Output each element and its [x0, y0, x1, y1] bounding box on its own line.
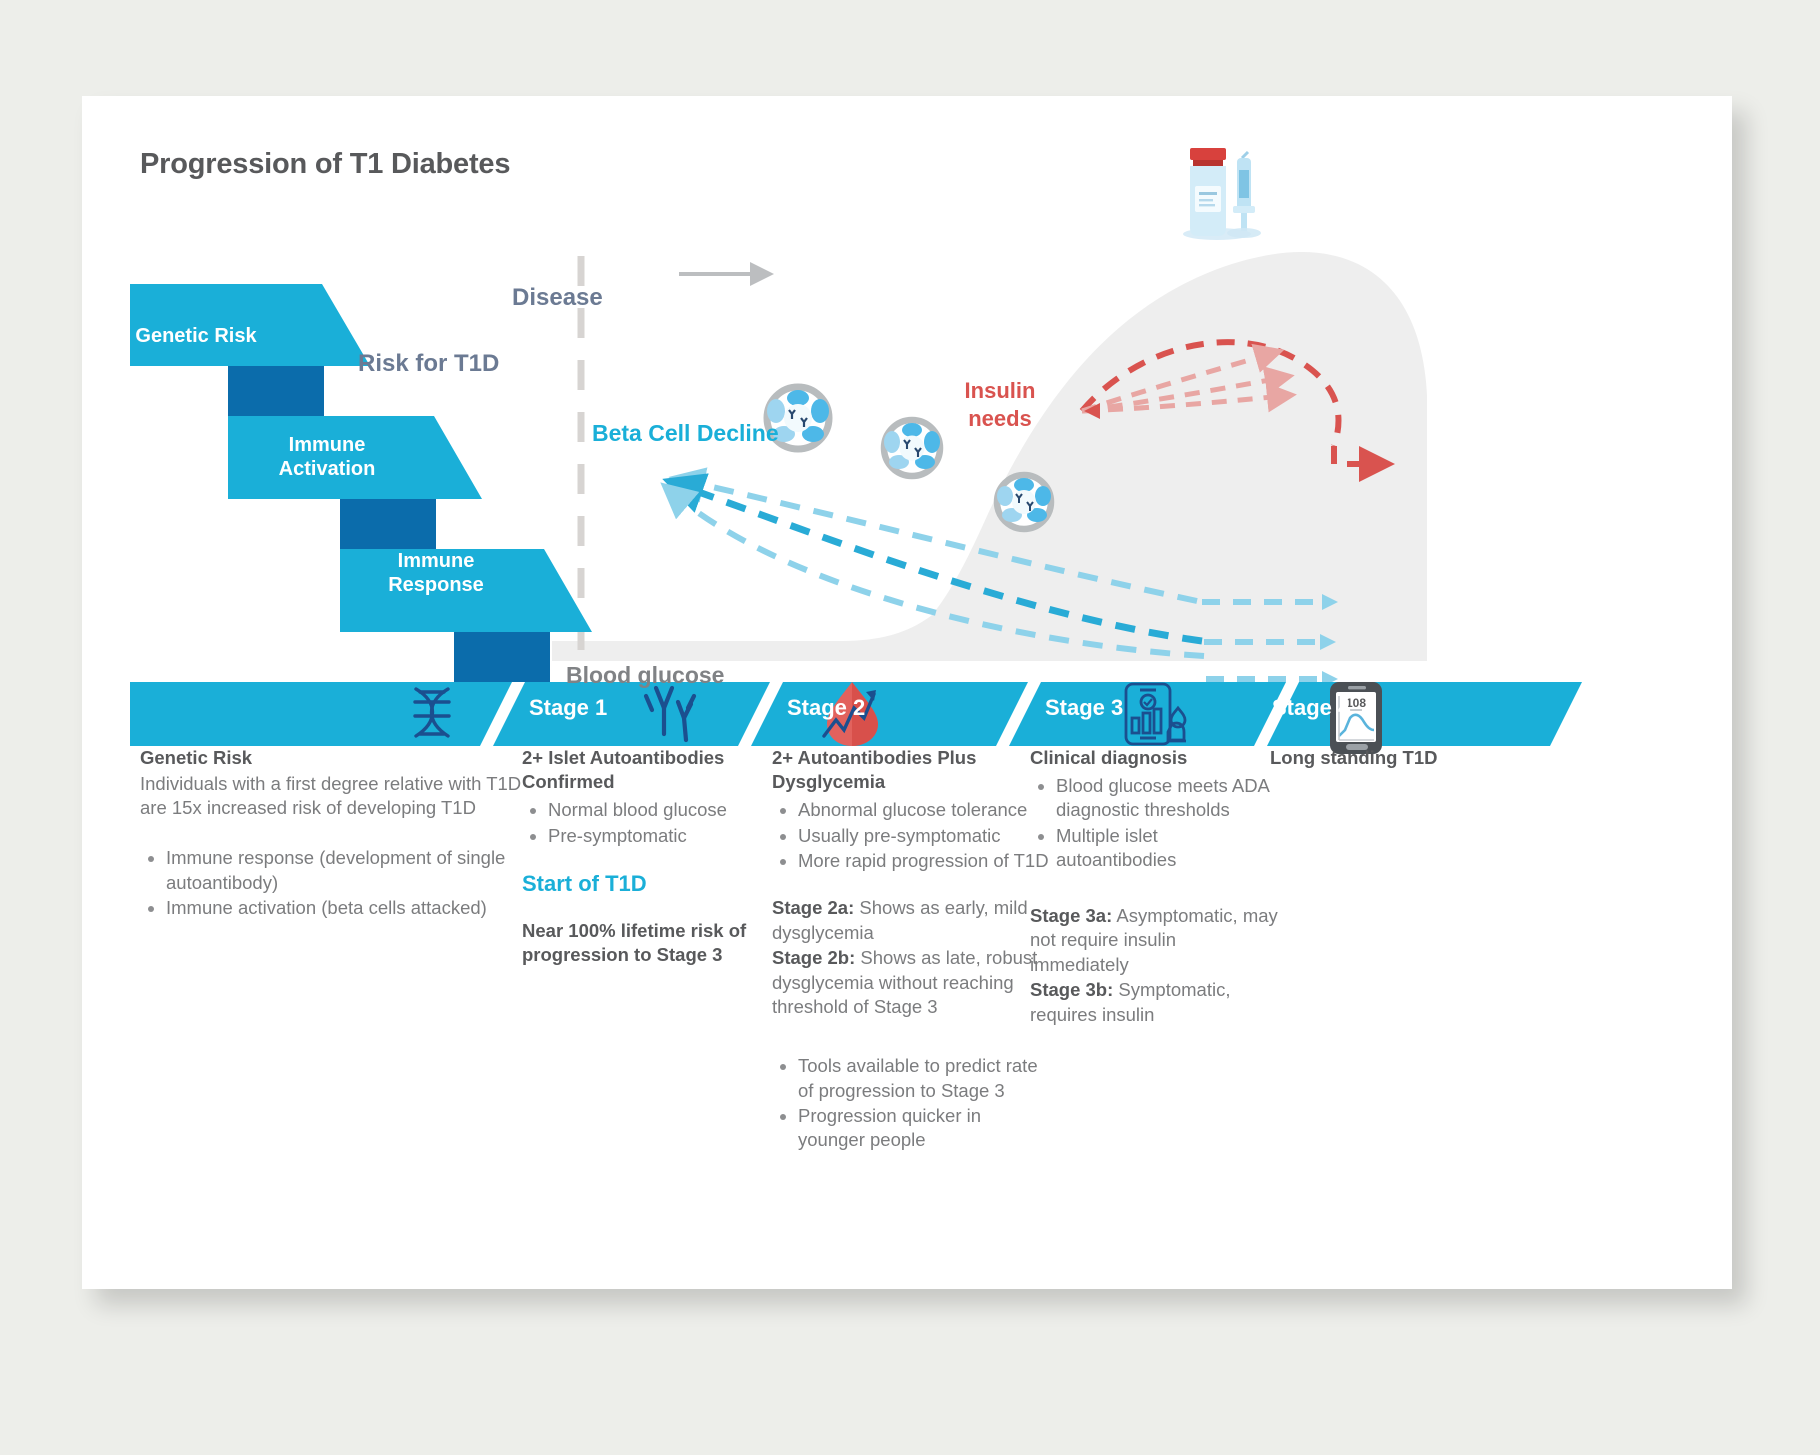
- column-bullet-list: Normal blood glucose Pre-symptomatic: [522, 798, 757, 848]
- column-stage-1: 2+ Islet Autoantibodies Confirmed Normal…: [522, 746, 757, 967]
- staircase-label-genetic-risk: Genetic Risk: [126, 324, 266, 348]
- staircase-label-line-1: Immune: [398, 550, 475, 572]
- list-item: Immune activation (beta cells attacked): [166, 896, 540, 920]
- stage-banner-label-4: Stage 4: [1272, 695, 1350, 721]
- list-item: More rapid progression of T1D: [798, 849, 1050, 873]
- staircase-label-immune-activation: Immune Activation: [254, 433, 400, 482]
- disease-label: Disease: [512, 284, 603, 312]
- list-item: Usually pre-symptomatic: [798, 824, 1050, 848]
- list-item: Pre-symptomatic: [548, 824, 757, 848]
- list-item: Progression quicker in younger people: [798, 1104, 1050, 1153]
- insulin-needs-label: Insulin needs: [952, 377, 1048, 433]
- spacer: [772, 1020, 1050, 1050]
- list-item: Blood glucose meets ADA diagnostic thres…: [1056, 774, 1278, 823]
- staircase-label-line-2: Response: [388, 574, 484, 596]
- list-item: Normal blood glucose: [548, 798, 757, 822]
- column-genetic-risk: Genetic Risk Individuals with a first de…: [140, 746, 540, 921]
- insulin-needs-line-1: Insulin: [965, 378, 1036, 403]
- staircase-label-immune-response: Immune Response: [366, 549, 506, 598]
- stage-3a-label: Stage 3a:: [1030, 905, 1112, 926]
- stage-3b-label: Stage 3b:: [1030, 979, 1113, 1000]
- spacer: [522, 897, 757, 919]
- list-item: Tools available to predict rate of progr…: [798, 1054, 1050, 1103]
- list-item: Immune response (development of single a…: [166, 846, 540, 895]
- column-heading: 2+ Autoantibodies Plus Dysglycemia: [772, 746, 1050, 794]
- islet-cell-icon-3: [997, 475, 1051, 529]
- infographic-canvas: Progression of T1 Diabetes: [0, 0, 1820, 1455]
- beta-cell-decline-label: Beta Cell Decline: [592, 420, 779, 447]
- spacer: [772, 874, 1050, 896]
- stage-banner-label-3: Stage 3: [1045, 695, 1123, 721]
- column-heading: Genetic Risk: [140, 746, 540, 770]
- stage-3a-note: Stage 3a: Asymptomatic, may not require …: [1030, 904, 1278, 978]
- spacer: [522, 849, 757, 871]
- column-stage-2: 2+ Autoantibodies Plus Dysglycemia Abnor…: [772, 746, 1050, 1154]
- stage-banner-label-1: Stage 1: [529, 695, 607, 721]
- list-item: Multiple islet autoantibodies: [1056, 824, 1278, 873]
- staircase-label-line-2: Activation: [279, 458, 376, 480]
- staircase-label-line-1: Immune: [289, 434, 366, 456]
- column-stage-3: Clinical diagnosis Blood glucose meets A…: [1030, 746, 1278, 1028]
- column-heading: Long standing T1D: [1270, 746, 1490, 770]
- infographic-card: Progression of T1 Diabetes: [82, 96, 1732, 1289]
- stage-banner-label-2: Stage 2: [787, 695, 865, 721]
- stage-2b-label: Stage 2b:: [772, 947, 855, 968]
- insulin-needs-line-2: needs: [968, 406, 1032, 431]
- column-heading: 2+ Islet Autoantibodies Confirmed: [522, 746, 757, 794]
- column-heading: Clinical diagnosis: [1030, 746, 1278, 770]
- column-bullet-list: Immune response (development of single a…: [140, 846, 540, 920]
- column-stage-4: Long standing T1D: [1270, 746, 1490, 772]
- list-item: Abnormal glucose tolerance: [798, 798, 1050, 822]
- column-bullet-list: Abnormal glucose tolerance Usually pre-s…: [772, 798, 1050, 873]
- insulin-vial-syringe-icon: [1183, 148, 1261, 240]
- column-bullet-list: Blood glucose meets ADA diagnostic thres…: [1030, 774, 1278, 873]
- spacer: [1030, 874, 1278, 904]
- islet-cell-icon-2: [884, 420, 940, 476]
- lifetime-risk-note: Near 100% lifetime risk of progression t…: [522, 919, 757, 967]
- stage-2b-note: Stage 2b: Shows as late, robust dysglyce…: [772, 946, 1050, 1020]
- risk-for-t1d-label: Risk for T1D: [358, 350, 499, 378]
- column-bullet-list-secondary: Tools available to predict rate of progr…: [772, 1054, 1050, 1153]
- spacer: [140, 820, 540, 842]
- stage-3b-note: Stage 3b: Symptomatic, requires insulin: [1030, 978, 1278, 1028]
- stage-2a-label: Stage 2a:: [772, 897, 854, 918]
- start-of-t1d-callout: Start of T1D: [522, 871, 757, 897]
- stage-2a-note: Stage 2a: Shows as early, mild dysglycem…: [772, 896, 1050, 946]
- column-body: Individuals with a first degree relative…: [140, 772, 540, 820]
- blood-glucose-label: Blood glucose: [566, 662, 724, 689]
